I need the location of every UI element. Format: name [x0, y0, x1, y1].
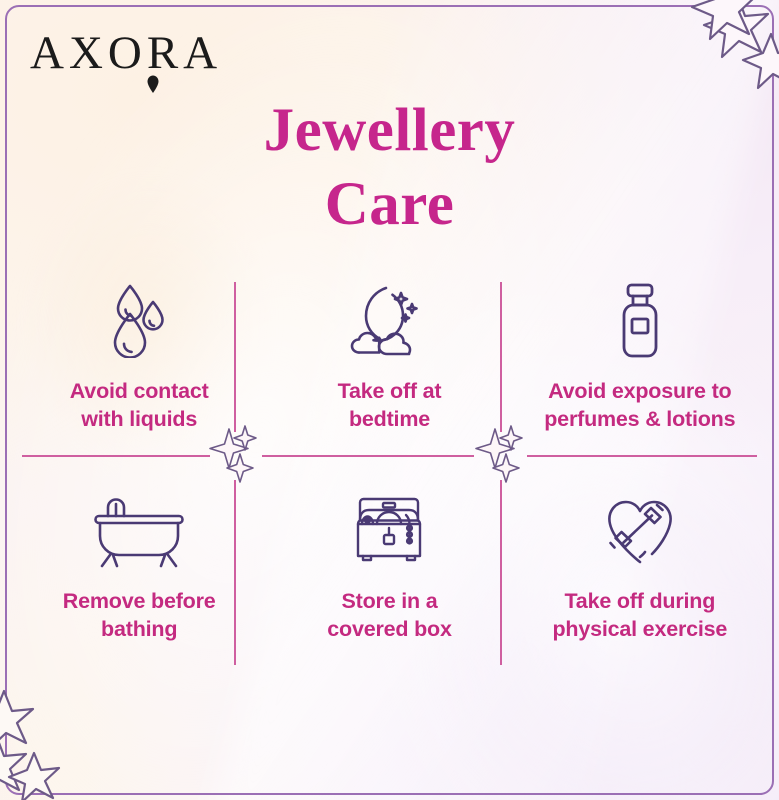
perfume-bottle-icon	[610, 278, 670, 364]
brand-logo-text: AXORA	[30, 30, 222, 77]
crescent-moon-stars-cloud-icon	[349, 278, 429, 364]
care-tip-label-line1: Avoid exposure to	[548, 379, 731, 403]
care-tip-label-line1: Take off at	[338, 379, 442, 403]
care-tip-store-covered-box: Store in a covered box	[264, 472, 514, 682]
clawfoot-bathtub-icon	[90, 488, 188, 574]
care-tip-label: Take off at bedtime	[338, 378, 442, 433]
care-tip-physical-exercise: Take off during physical exercise	[515, 472, 765, 682]
care-tip-label: Take off during physical exercise	[552, 588, 727, 643]
care-tip-label-line2: bathing	[101, 617, 177, 641]
care-tip-avoid-liquids: Avoid contact with liquids	[14, 262, 264, 472]
care-tip-label-line2: covered box	[327, 617, 451, 641]
care-tip-remove-before-bathing: Remove before bathing	[14, 472, 264, 682]
jewellery-box-icon	[347, 488, 431, 574]
jewellery-care-poster: AXORA Jewellery Care	[0, 0, 779, 800]
care-tip-label: Avoid exposure to perfumes & lotions	[544, 378, 735, 433]
care-tip-label-line2: bedtime	[349, 407, 430, 431]
brand-logo: AXORA	[30, 30, 222, 77]
care-tip-label-line1: Remove before	[63, 589, 216, 613]
water-droplets-icon	[106, 278, 172, 364]
page-title-line1: Jewellery	[264, 97, 516, 164]
care-tip-label-line2: perfumes & lotions	[544, 407, 735, 431]
page-title: Jewellery Care	[0, 94, 779, 243]
care-tip-bedtime: Take off at bedtime	[264, 262, 514, 472]
care-tip-label-line1: Avoid contact	[70, 379, 209, 403]
care-tip-label-line1: Take off during	[564, 589, 715, 613]
care-tip-label: Avoid contact with liquids	[70, 378, 209, 433]
heart-dumbbell-icon	[597, 488, 683, 574]
care-tip-label-line2: physical exercise	[552, 617, 727, 641]
care-tip-label-line1: Store in a	[342, 589, 438, 613]
care-tips-grid: Avoid contact with liquids	[14, 262, 765, 682]
page-title-line2: Care	[0, 168, 779, 242]
care-tip-label: Store in a covered box	[327, 588, 451, 643]
care-tip-label-line2: with liquids	[81, 407, 197, 431]
care-tip-avoid-perfume: Avoid exposure to perfumes & lotions	[515, 262, 765, 472]
care-tip-label: Remove before bathing	[63, 588, 216, 643]
